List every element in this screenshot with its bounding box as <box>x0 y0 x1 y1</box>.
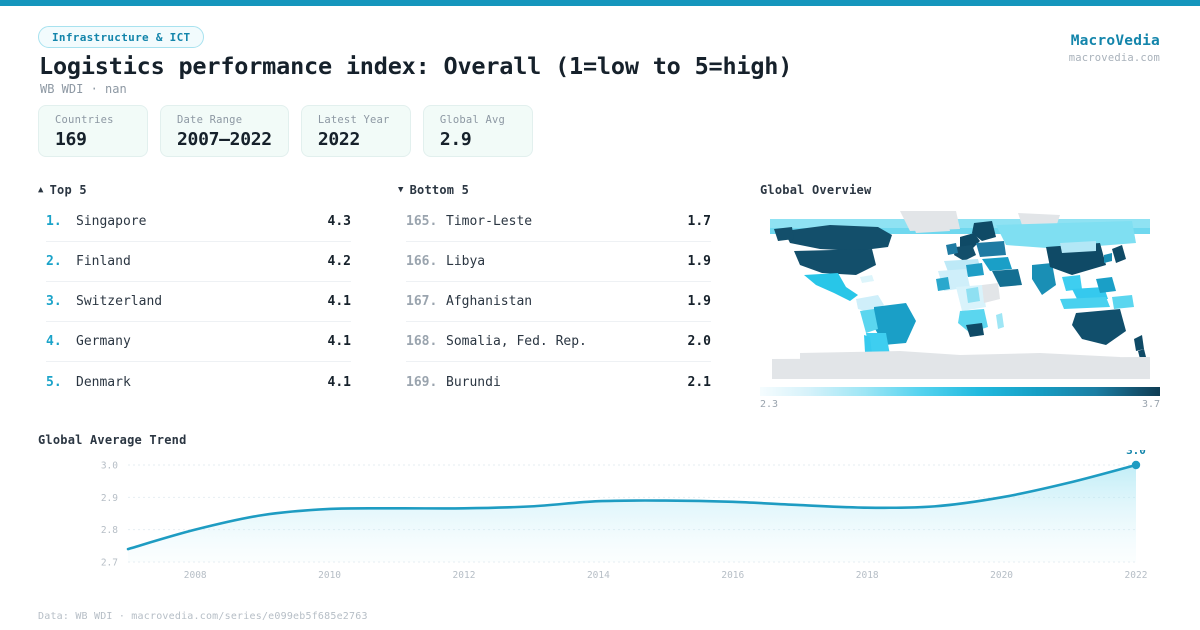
rank-country: Libya <box>446 254 688 269</box>
rank-value: 1.7 <box>688 214 711 229</box>
rank-country: Singapore <box>76 214 328 229</box>
page-subtitle: WB WDI · nan <box>40 82 127 96</box>
top5-heading-label: Top 5 <box>50 183 87 197</box>
list-item: 166. Libya 1.9 <box>406 242 711 282</box>
world-choropleth-map <box>760 203 1160 383</box>
stat-card-date-range: Date Range 2007—2022 <box>160 105 289 157</box>
svg-text:3.0: 3.0 <box>101 461 118 472</box>
list-item: 165. Timor-Leste 1.7 <box>406 202 711 242</box>
category-badge-label: Infrastructure & ICT <box>52 31 190 44</box>
rank-country: Burundi <box>446 375 688 390</box>
infographic-page: Infrastructure & ICT Logistics performan… <box>0 0 1200 630</box>
map-heading: Global Overview <box>760 183 871 197</box>
rank-country: Finland <box>76 254 328 269</box>
rank-number: 169. <box>406 375 446 390</box>
rank-number: 4. <box>46 334 76 349</box>
colorbar-max-label: 3.7 <box>1142 399 1160 410</box>
list-item: 3. Switzerland 4.1 <box>46 282 351 322</box>
svg-text:2.9: 2.9 <box>101 493 118 504</box>
chart-y-ticks: 2.72.82.93.0 <box>101 461 118 569</box>
stat-label: Global Avg <box>440 114 516 126</box>
rank-number: 2. <box>46 254 76 269</box>
list-item: 169. Burundi 2.1 <box>406 362 711 402</box>
svg-text:2018: 2018 <box>856 570 879 580</box>
svg-text:2014: 2014 <box>587 570 610 580</box>
rank-value: 4.3 <box>328 214 351 229</box>
stat-value: 169 <box>55 129 131 150</box>
chart-x-ticks: 20082010201220142016201820202022 <box>184 570 1148 580</box>
stat-cards: Countries 169 Date Range 2007—2022 Lates… <box>38 105 533 157</box>
rank-country: Timor-Leste <box>446 214 688 229</box>
list-item: 2. Finland 4.2 <box>46 242 351 282</box>
trend-heading: Global Average Trend <box>38 433 187 447</box>
triangle-up-icon: ▲ <box>38 186 44 195</box>
top5-list: 1. Singapore 4.3 2. Finland 4.2 3. Switz… <box>46 202 351 402</box>
page-title: Logistics performance index: Overall (1=… <box>39 52 792 80</box>
bottom5-list: 165. Timor-Leste 1.7 166. Libya 1.9 167.… <box>406 202 711 402</box>
rank-number: 166. <box>406 254 446 269</box>
rank-country: Switzerland <box>76 294 328 309</box>
brand-url: macrovedia.com <box>1069 52 1160 64</box>
rank-country: Denmark <box>76 375 328 390</box>
rank-number: 165. <box>406 214 446 229</box>
stat-value: 2.9 <box>440 129 516 150</box>
stat-card-global-avg: Global Avg 2.9 <box>423 105 533 157</box>
rank-number: 5. <box>46 375 76 390</box>
svg-text:2016: 2016 <box>721 570 744 580</box>
svg-text:2022: 2022 <box>1125 570 1148 580</box>
stat-value: 2022 <box>318 129 394 150</box>
bottom5-heading-label: Bottom 5 <box>410 183 469 197</box>
rank-value: 1.9 <box>688 294 711 309</box>
rank-value: 4.1 <box>328 375 351 390</box>
list-item: 5. Denmark 4.1 <box>46 362 351 402</box>
stat-label: Countries <box>55 114 131 126</box>
footer-source: Data: WB WDI · macrovedia.com/series/e09… <box>38 611 368 622</box>
rank-value: 4.1 <box>328 334 351 349</box>
rank-value: 2.1 <box>688 375 711 390</box>
rank-number: 1. <box>46 214 76 229</box>
stat-card-latest-year: Latest Year 2022 <box>301 105 411 157</box>
svg-text:2.8: 2.8 <box>101 525 118 536</box>
svg-text:2010: 2010 <box>318 570 341 580</box>
top-accent-bar <box>0 0 1200 6</box>
bottom5-heading: ▼ Bottom 5 <box>398 183 469 197</box>
rank-country: Germany <box>76 334 328 349</box>
triangle-down-icon: ▼ <box>398 186 404 195</box>
list-item: 4. Germany 4.1 <box>46 322 351 362</box>
rank-number: 168. <box>406 334 446 349</box>
rank-country: Somalia, Fed. Rep. <box>446 334 688 349</box>
chart-end-point <box>1132 461 1140 469</box>
list-item: 167. Afghanistan 1.9 <box>406 282 711 322</box>
colorbar-min-label: 2.3 <box>760 399 778 410</box>
rank-value: 4.2 <box>328 254 351 269</box>
svg-text:2020: 2020 <box>990 570 1013 580</box>
brand: MacroVedia macrovedia.com <box>1069 33 1160 64</box>
svg-text:2012: 2012 <box>453 570 476 580</box>
rank-value: 2.0 <box>688 334 711 349</box>
chart-end-label: 3.0 <box>1126 450 1146 457</box>
list-item: 168. Somalia, Fed. Rep. 2.0 <box>406 322 711 362</box>
top5-heading: ▲ Top 5 <box>38 183 87 197</box>
svg-text:2.7: 2.7 <box>101 558 118 569</box>
stat-value: 2007—2022 <box>177 129 272 150</box>
svg-text:2008: 2008 <box>184 570 207 580</box>
global-average-trend-chart: 2.72.82.93.0 200820102012201420162018202… <box>36 450 1164 580</box>
rank-value: 1.9 <box>688 254 711 269</box>
rank-country: Afghanistan <box>446 294 688 309</box>
rank-number: 167. <box>406 294 446 309</box>
rank-number: 3. <box>46 294 76 309</box>
category-badge: Infrastructure & ICT <box>38 26 204 48</box>
rank-value: 4.1 <box>328 294 351 309</box>
brand-name: MacroVedia <box>1069 33 1160 49</box>
stat-label: Date Range <box>177 114 272 126</box>
stat-label: Latest Year <box>318 114 394 126</box>
list-item: 1. Singapore 4.3 <box>46 202 351 242</box>
stat-card-countries: Countries 169 <box>38 105 148 157</box>
map-colorbar <box>760 387 1160 396</box>
